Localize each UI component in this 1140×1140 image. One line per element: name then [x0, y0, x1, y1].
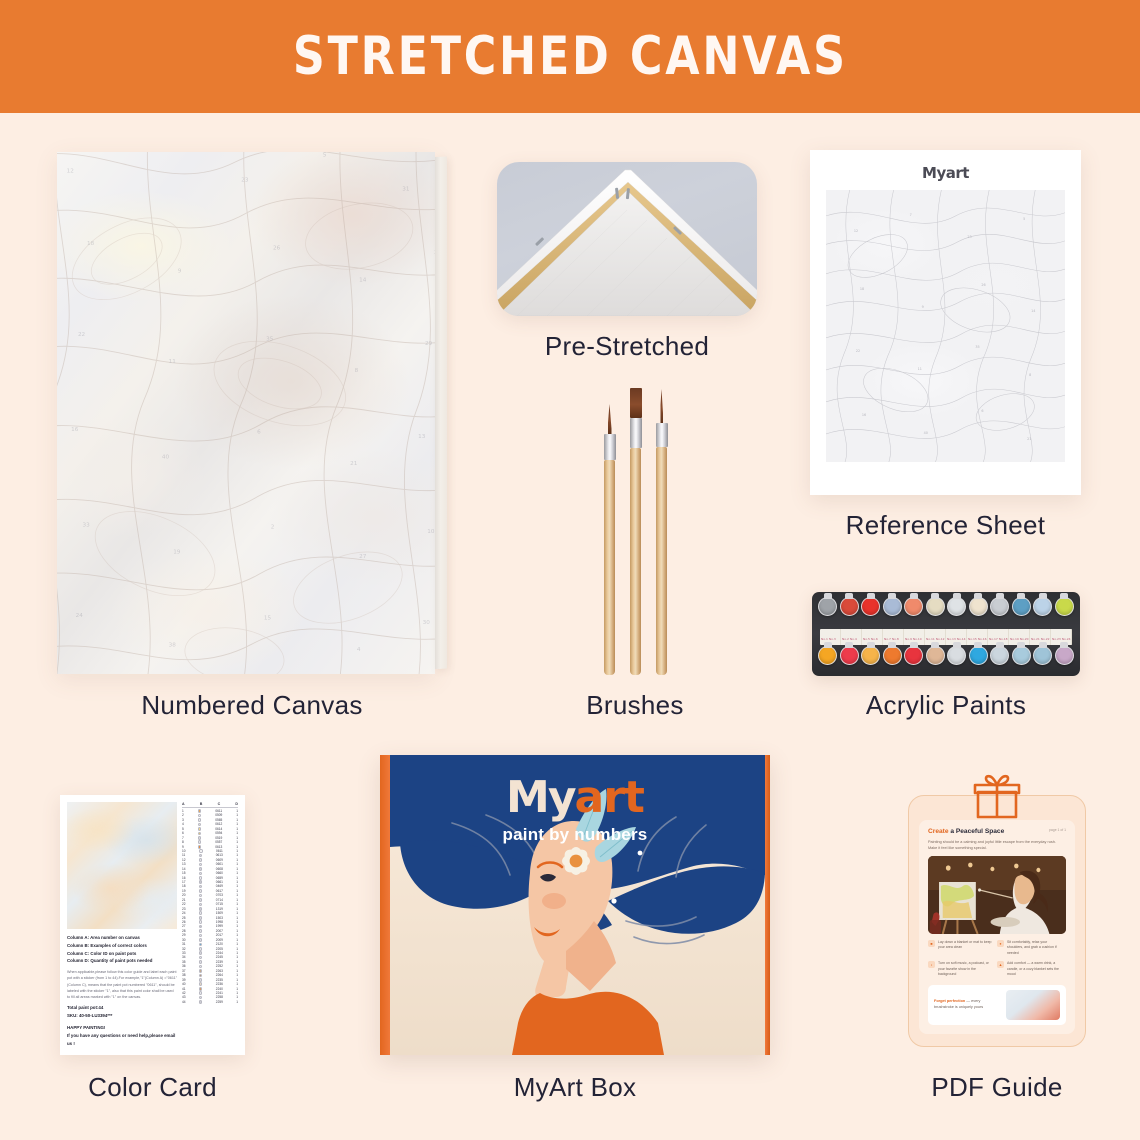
- myart-logo: Myart: [380, 772, 770, 823]
- pdf-heading-accent: Create: [928, 828, 949, 835]
- svg-text:6: 6: [257, 429, 261, 435]
- gift-icon-svg: [970, 774, 1024, 820]
- music-icon: ♪: [928, 961, 935, 968]
- color-card-row: 4422591: [182, 1000, 238, 1004]
- paint-pot: [904, 646, 923, 665]
- svg-text:23: 23: [241, 177, 249, 183]
- paint-pot: [926, 646, 945, 665]
- svg-text:40: 40: [924, 431, 928, 435]
- svg-text:10: 10: [427, 529, 435, 535]
- logo-my-text: My: [506, 772, 574, 823]
- paint-pot-row-bottom: [818, 646, 1074, 677]
- svg-text:26: 26: [981, 283, 985, 287]
- pdf-heading: page 1 of 1 Create a Peaceful Space: [928, 828, 1066, 836]
- paint-pot: [990, 646, 1009, 665]
- pdf-tip-text: Turn on soft music, a podcast, or your f…: [938, 961, 994, 977]
- cc-color-swatch: [199, 849, 203, 853]
- pdf-tip-item: ■ Lay down a blanket or mat to keep your…: [928, 940, 997, 956]
- numbered-canvas-image: 12723 53118 92614 32211 35829 16406 2113…: [57, 152, 447, 674]
- cc-color-swatch: [198, 818, 202, 822]
- svg-text:9: 9: [922, 305, 924, 309]
- svg-text:2: 2: [271, 524, 275, 530]
- caption-myart-box: MyArt Box: [380, 1072, 770, 1103]
- cc-quantity: 1: [236, 1000, 238, 1004]
- svg-text:7: 7: [910, 213, 912, 217]
- pdf-photo-svg: [928, 856, 1066, 934]
- svg-text:14: 14: [359, 277, 367, 283]
- cc-color-swatch: [198, 845, 202, 849]
- color-card-contact: If you have any questions or need help,p…: [67, 1032, 177, 1048]
- pdf-tip-text: Lay down a blanket or mat to keep your a…: [938, 940, 994, 956]
- acrylic-paints-tray: No.1 No.3No.2 No.4No.5 No.6No.7 No.8No.9…: [812, 592, 1080, 676]
- svg-text:12: 12: [67, 168, 75, 174]
- cc-area-number: 44: [182, 1000, 186, 1004]
- color-card-column-c: Column C: Color ID on paint pots: [67, 950, 177, 958]
- brushes-image: [585, 385, 685, 675]
- header-banner: STRETCHED CANVAS: [0, 0, 1140, 113]
- color-card-note: When applicable,please follow this color…: [67, 969, 177, 1000]
- canvas-side-edge: [435, 157, 447, 669]
- th-d: D: [235, 802, 238, 806]
- gift-icon: [970, 774, 1024, 825]
- svg-text:23: 23: [967, 235, 971, 239]
- paint-pot: [883, 597, 902, 616]
- svg-text:11: 11: [169, 359, 177, 365]
- svg-text:16: 16: [862, 413, 866, 417]
- svg-text:14: 14: [1031, 309, 1035, 313]
- paint-pot-row-top: [818, 597, 1074, 628]
- color-card-artwork: [67, 802, 177, 929]
- paint-pot: [840, 597, 859, 616]
- svg-text:21: 21: [350, 461, 358, 467]
- pre-stretched-photo: [497, 162, 757, 316]
- paint-pot: [861, 646, 880, 665]
- reference-line-art-svg: 12723 5189 261422 11358 16406 21: [826, 190, 1065, 462]
- color-card-total-pots: Total paint pot:44: [67, 1004, 177, 1012]
- paint-pot: [1055, 646, 1074, 665]
- color-card-column-a: Column A: Area number on canvas: [67, 934, 177, 942]
- pdf-footer-note: Forget perfection — every brushstroke is…: [928, 985, 1066, 1025]
- reference-sheet-logo: Myart: [826, 164, 1065, 182]
- svg-text:22: 22: [78, 332, 86, 338]
- pdf-tips-list: ■ Lay down a blanket or mat to keep your…: [928, 940, 1066, 983]
- cc-color-id: 2259: [216, 1000, 223, 1004]
- th-b: B: [200, 802, 203, 806]
- svg-text:18: 18: [87, 241, 95, 247]
- paint-pot: [1012, 597, 1031, 616]
- svg-text:16: 16: [71, 427, 79, 433]
- paint-pot: [1055, 597, 1074, 616]
- pdf-tip-text: Sit comfortably, relax your shoulders, a…: [1007, 940, 1063, 956]
- paint-pot: [969, 597, 988, 616]
- pdf-footer-accent: Forget perfection: [934, 999, 965, 1003]
- paint-pot: [1033, 597, 1052, 616]
- pdf-subtitle: Painting should be a calming and joyful …: [928, 839, 1066, 851]
- paint-pot: [818, 597, 837, 616]
- svg-text:27: 27: [359, 554, 367, 560]
- cc-color-swatch: [198, 827, 202, 831]
- caption-pdf-guide: PDF Guide: [897, 1072, 1097, 1103]
- paint-pot: [818, 646, 837, 665]
- pdf-tip-item: ● Sit comfortably, relax your shoulders,…: [997, 940, 1066, 956]
- svg-text:18: 18: [860, 287, 864, 291]
- cushion-icon: ●: [997, 940, 1004, 947]
- cc-color-swatch: [198, 836, 202, 840]
- paint-pot: [840, 646, 859, 665]
- caption-numbered-canvas: Numbered Canvas: [57, 690, 447, 721]
- caption-reference-sheet: Reference Sheet: [810, 510, 1081, 541]
- th-a: A: [182, 802, 185, 806]
- color-card-sku: SKU: 40-50-LU3394***: [67, 1012, 177, 1020]
- round-detail-brush: [604, 417, 615, 675]
- canvas-face: 12723 53118 92614 32211 35829 16406 2113…: [57, 152, 435, 674]
- caption-brushes: Brushes: [500, 690, 770, 721]
- svg-text:12: 12: [854, 229, 858, 233]
- paint-pot: [947, 597, 966, 616]
- reference-sheet-line-art: 12723 5189 261422 11358 16406 21: [826, 190, 1065, 462]
- svg-text:13: 13: [418, 434, 426, 440]
- paint-pot: [883, 646, 902, 665]
- mat-icon: ■: [928, 940, 935, 947]
- svg-text:30: 30: [423, 620, 431, 626]
- svg-text:19: 19: [173, 549, 181, 555]
- paint-pot: [861, 597, 880, 616]
- caption-pre-stretched: Pre-Stretched: [497, 331, 757, 362]
- color-card-table-header: A B C D: [182, 802, 238, 808]
- liner-brush: [656, 401, 667, 675]
- svg-text:35: 35: [266, 336, 274, 342]
- svg-text:29: 29: [425, 341, 433, 347]
- svg-text:8: 8: [355, 368, 359, 374]
- color-card-column-b: Column B: Examples of correct colors: [67, 942, 177, 950]
- color-card-column-d: Column D: Quantity of paint pots needed: [67, 957, 177, 965]
- color-card-table: A B C D 10611120509130565140612150614160…: [182, 802, 238, 1048]
- paint-pot: [926, 597, 945, 616]
- cc-color-swatch: [199, 1000, 203, 1004]
- color-card-happy-painting: HAPPY PAINTING!: [67, 1024, 177, 1032]
- candle-icon: ▲: [997, 961, 1004, 968]
- svg-text:9: 9: [178, 268, 182, 274]
- pdf-footer-text: Forget perfection — every brushstroke is…: [934, 999, 1001, 1011]
- svg-text:5: 5: [323, 153, 327, 159]
- svg-text:15: 15: [264, 615, 272, 621]
- cc-color-swatch: [199, 987, 203, 991]
- paint-pot: [990, 597, 1009, 616]
- color-card-image: Column A: Area number on canvas Column B…: [60, 795, 245, 1055]
- svg-text:33: 33: [83, 522, 91, 528]
- svg-text:4: 4: [357, 647, 361, 653]
- svg-text:40: 40: [162, 454, 170, 460]
- canvas-paint-regions: 12723 53118 92614 32211 35829 16406 2113…: [57, 152, 435, 674]
- th-c: C: [218, 802, 221, 806]
- pdf-heading-rest: a Peaceful Space: [949, 828, 1005, 835]
- paint-pot: [904, 597, 923, 616]
- pdf-tip-item: ▲ Add comfort — a warm drink, a candle, …: [997, 961, 1066, 977]
- svg-text:6: 6: [981, 409, 983, 413]
- paint-pot: [1033, 646, 1052, 665]
- flat-brush: [630, 390, 641, 675]
- caption-acrylic-paints: Acrylic Paints: [812, 690, 1080, 721]
- svg-text:26: 26: [273, 245, 281, 251]
- pdf-page: page 1 of 1 Create a Peaceful Space Pain…: [919, 820, 1075, 1034]
- pdf-footer-thumbnail: [1006, 990, 1060, 1020]
- svg-text:24: 24: [76, 613, 84, 619]
- svg-text:5: 5: [1023, 217, 1025, 221]
- logo-art-text: art: [575, 772, 644, 823]
- cc-color-swatch: [199, 916, 203, 920]
- svg-text:38: 38: [169, 642, 177, 648]
- svg-text:8: 8: [1029, 373, 1031, 377]
- reference-sheet-image: Myart 1272: [810, 150, 1081, 495]
- paint-pot: [969, 646, 988, 665]
- caption-color-card: Color Card: [40, 1072, 265, 1103]
- paint-label-strip: No.1 No.3No.2 No.4No.5 No.6No.7 No.8No.9…: [820, 629, 1072, 645]
- pdf-tip-text: Add comfort — a warm drink, a candle, or…: [1007, 961, 1063, 977]
- svg-text:35: 35: [975, 345, 979, 349]
- paint-pot: [1012, 646, 1031, 665]
- box-tagline: paint by numbers: [380, 825, 770, 845]
- stretched-canvas-corner-illustration: [497, 162, 757, 316]
- svg-text:22: 22: [856, 349, 860, 353]
- svg-text:21: 21: [1027, 437, 1031, 441]
- page-title: STRETCHED CANVAS: [293, 26, 848, 87]
- pdf-guide-image: page 1 of 1 Create a Peaceful Space Pain…: [908, 795, 1086, 1047]
- svg-text:31: 31: [402, 187, 410, 193]
- pdf-tip-item: ♪ Turn on soft music, a podcast, or your…: [928, 961, 997, 977]
- svg-text:11: 11: [918, 367, 922, 371]
- pdf-photo-woman-painting: [928, 856, 1066, 934]
- pdf-page-number: page 1 of 1: [1049, 828, 1066, 832]
- paint-pot: [947, 646, 966, 665]
- myart-box-image: Myart paint by numbers: [380, 755, 770, 1055]
- color-card-legend: Column A: Area number on canvas Column B…: [67, 934, 177, 1048]
